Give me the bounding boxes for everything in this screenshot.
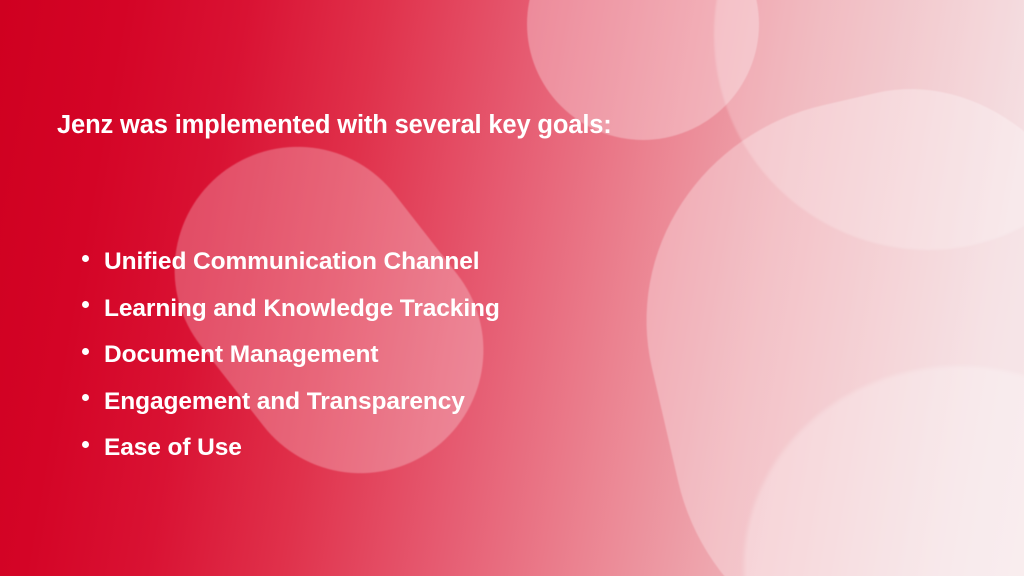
list-item: Ease of Use	[78, 434, 500, 481]
list-item: Learning and Knowledge Tracking	[78, 295, 500, 342]
list-item-label: Unified Communication Channel	[104, 248, 480, 276]
goals-bullet-list: Unified Communication Channel Learning a…	[78, 248, 500, 481]
bullet-point-icon	[78, 438, 104, 459]
list-item-label: Document Management	[104, 341, 378, 369]
list-item: Document Management	[78, 341, 500, 388]
bullet-point-icon	[78, 299, 104, 320]
bullet-point-icon	[78, 252, 104, 273]
slide-title: Jenz was implemented with several key go…	[57, 111, 612, 140]
slide-content: Jenz was implemented with several key go…	[0, 0, 1024, 576]
list-item-label: Learning and Knowledge Tracking	[104, 295, 500, 323]
list-item-label: Ease of Use	[104, 434, 242, 462]
bullet-point-icon	[78, 345, 104, 366]
bullet-point-icon	[78, 392, 104, 413]
list-item: Unified Communication Channel	[78, 248, 500, 295]
list-item-label: Engagement and Transparency	[104, 388, 465, 416]
presentation-slide: Jenz was implemented with several key go…	[0, 0, 1024, 576]
list-item: Engagement and Transparency	[78, 388, 500, 435]
